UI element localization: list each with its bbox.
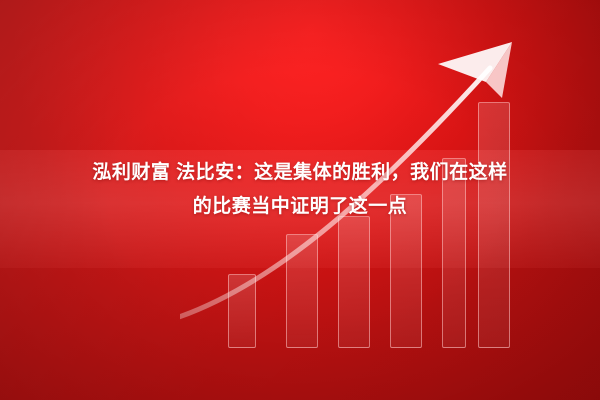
news-banner-image: 泓利财富 法比安：这是集体的胜利，我们在这样 的比赛当中证明了这一点 [0,0,600,400]
headline-line-1: 泓利财富 法比安：这是集体的胜利，我们在这样 [14,156,586,190]
headline-line-2: 的比赛当中证明了这一点 [14,190,586,224]
headline-text: 泓利财富 法比安：这是集体的胜利，我们在这样 的比赛当中证明了这一点 [0,156,600,224]
